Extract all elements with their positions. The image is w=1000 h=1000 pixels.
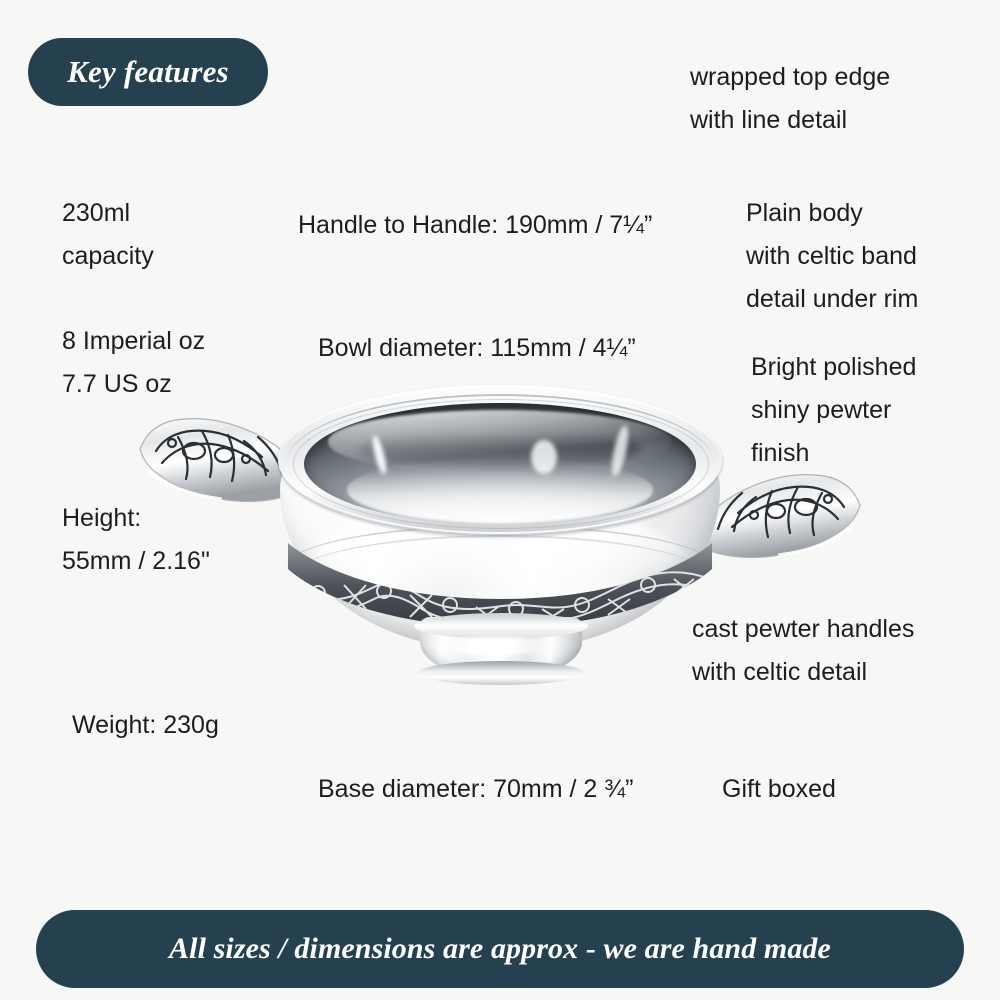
annotation-gift-boxed: Gift boxed <box>722 768 836 811</box>
annotation-bowl-diameter: Bowl diameter: 115mm / 4¼” <box>318 327 636 370</box>
foot-ring-bottom <box>418 661 584 685</box>
product-image-quaich <box>130 385 870 705</box>
key-features-badge: Key features <box>28 38 268 106</box>
quaich-bowl <box>270 385 730 705</box>
disclaimer-text: All sizes / dimensions are approx - we a… <box>169 932 831 966</box>
annotation-handle-to-handle: Handle to Handle: 190mm / 7¼” <box>298 204 652 247</box>
interior-highlight-lower <box>347 457 653 523</box>
interior-specular-2 <box>531 440 557 474</box>
annotation-plain-body: Plain body with celtic band detail under… <box>746 192 918 321</box>
annotation-base-diameter: Base diameter: 70mm / 2 ¾” <box>318 768 633 811</box>
foot-ring-top <box>414 613 588 639</box>
product-spec-infographic: Key features wrapped top edge with line … <box>0 0 1000 1000</box>
foot-highlight <box>436 637 556 655</box>
annotation-weight: Weight: 230g <box>72 704 219 747</box>
disclaimer-banner: All sizes / dimensions are approx - we a… <box>36 910 964 988</box>
annotation-capacity: 230ml capacity <box>62 192 154 278</box>
key-features-label: Key features <box>67 54 229 90</box>
annotation-wrapped-top-edge: wrapped top edge with line detail <box>690 56 890 142</box>
bowl-interior <box>304 403 696 525</box>
